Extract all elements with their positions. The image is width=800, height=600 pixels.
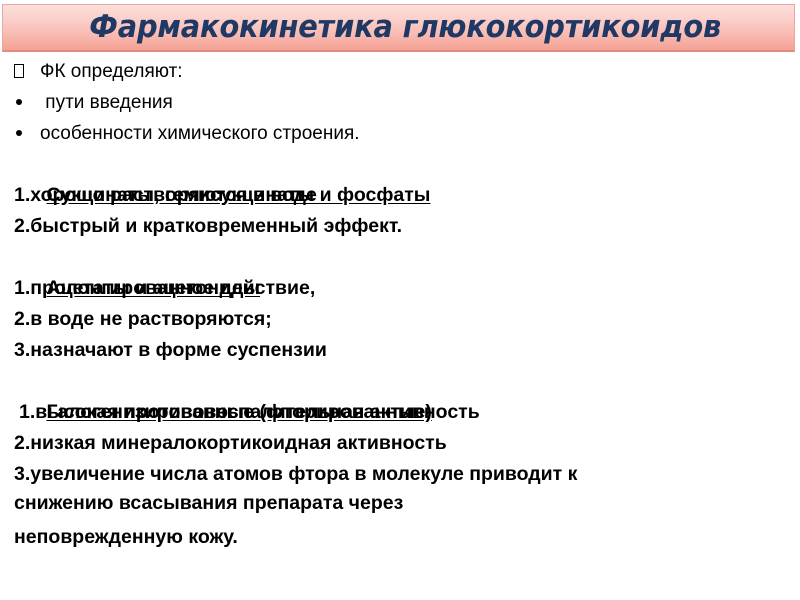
list-item: ФК определяют:	[0, 56, 800, 87]
list-item-number: 2.	[14, 308, 30, 330]
numbered-list-item: 2.быстрый и кратковременный эффект.	[0, 211, 800, 242]
list-item-number: 1.	[19, 401, 35, 423]
list-item-label: пути введения	[40, 87, 173, 118]
slide: Фармакокинетика глюкокортикоидов ФК опре…	[0, 0, 800, 600]
list-item-label: хорошо растворяются в воде	[30, 184, 317, 206]
list-item-number: 3.	[14, 463, 30, 485]
list-item-number: 1.	[14, 277, 30, 299]
paragraph-final-line: неповрежденную кожу.	[0, 517, 800, 551]
numbered-list-item: 2.в воде не растворяются;	[0, 304, 800, 335]
list-item-label: высокая противовоспалительная активность	[35, 401, 479, 423]
numbered-list-item: 3.назначают в форме суспензии	[0, 335, 800, 366]
section-heading: Ацетаты и ацетониды	[0, 242, 800, 273]
dot-bullet-icon	[14, 87, 40, 118]
section-heading: Сукцинаты, гемисукцинаты и фосфаты	[0, 149, 800, 180]
list-item-label: назначают в форме суспензии	[30, 339, 327, 361]
list-item-number: 3.	[14, 339, 30, 361]
list-item-number: 1.	[14, 184, 30, 206]
title-banner: Фармакокинетика глюкокортикоидов	[2, 4, 795, 52]
section-heading: Галогенизированные (фторированные)	[0, 366, 800, 397]
paragraph-continuation-line: снижению всасывания препарата через	[0, 489, 800, 517]
list-item-label: быстрый и кратковременный эффект.	[30, 215, 402, 237]
list-item-label: пролонгированное действие,	[30, 277, 315, 299]
numbered-list-item: 2.низкая минералокортикоидная активность	[0, 428, 800, 459]
slide-body: ФК определяют: пути введения особенности…	[0, 56, 800, 551]
page-title: Фармакокинетика глюкокортикоидов	[76, 12, 721, 43]
list-item-number: 2.	[14, 432, 30, 454]
box-bullet-icon	[14, 55, 40, 86]
list-item-label: ФК определяют:	[40, 56, 183, 87]
list-item: пути введения	[0, 87, 800, 118]
list-item-label: в воде не растворяются;	[30, 308, 271, 330]
list-item-label: низкая минералокортикоидная активность	[30, 432, 446, 454]
list-item-label: особенности химического строения.	[40, 118, 360, 149]
dot-bullet-icon	[14, 118, 40, 149]
numbered-list-item: 1.пролонгированное действие,	[0, 273, 800, 304]
numbered-list-item: 3.увеличение числа атомов фтора в молеку…	[0, 459, 800, 489]
list-item-label: увеличение числа атомов фтора в молекуле…	[30, 463, 577, 485]
numbered-list-item: 1.высокая противовоспалительная активнос…	[0, 397, 800, 428]
list-item-number: 2.	[14, 215, 30, 237]
list-item: особенности химического строения.	[0, 118, 800, 149]
